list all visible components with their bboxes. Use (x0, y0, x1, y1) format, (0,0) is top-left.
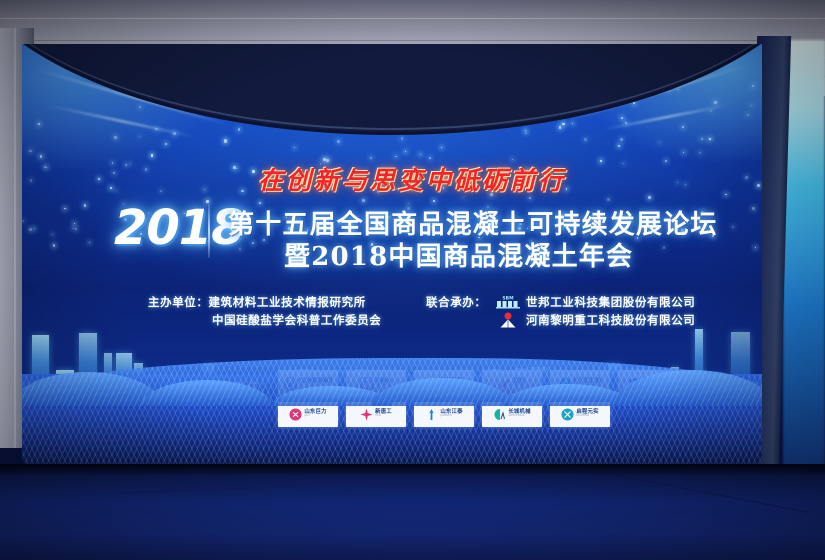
stage-floor (0, 464, 825, 560)
banner-year: 2018 (114, 200, 244, 256)
burst-icon (561, 408, 574, 421)
stage-photo: 在创新与思变中砥砺前行 2018 第十五届全国商品混凝土可持续发展论坛 暨201… (0, 0, 825, 560)
sponsor-name-block: 山东巨力JULI (304, 410, 326, 418)
host-organizer-line1: 主办单位：建筑材料工业技术情报研究所 (148, 294, 366, 310)
led-video-wall: 在创新与思变中砥砺前行 2018 第十五届全国商品混凝土可持续发展论坛 暨201… (22, 44, 762, 464)
svg-text:SBM: SBM (502, 296, 514, 302)
sponsor-subname: JULI (304, 415, 326, 418)
right-glow-panel (783, 40, 825, 470)
stage-floor-edge (0, 464, 825, 474)
co-organizer-label: 联合承办： (426, 294, 487, 310)
sponsor-name-block: 长城机械GREATWALL (508, 410, 530, 418)
co-organizer-line1: 世邦工业科技集团股份有限公司 (526, 294, 695, 310)
sponsor-subname: JIANGTAI (440, 415, 462, 418)
banner-slogan: 在创新与思变中砥砺前行 (212, 161, 612, 197)
sbm-logo-icon: SBM (495, 294, 521, 309)
sponsor-subname: QICHENG (576, 415, 598, 418)
sponsor-subname: XSG (375, 415, 392, 418)
lm-heavy-industry-logo-icon (499, 312, 517, 328)
sponsor-subname: GREATWALL (508, 415, 530, 418)
sponsor-name-block: 新唐工XSG (375, 410, 392, 418)
title-divider (208, 204, 210, 258)
sponsor-name-block: 山东江泰JIANGTAI (440, 410, 462, 418)
rosette-icon (289, 408, 302, 421)
cm-icon (493, 408, 506, 421)
sparkle-icon (360, 408, 373, 421)
banner-title-line2: 暨2018中国商品混凝土年会 (284, 236, 633, 273)
torch-icon (425, 408, 438, 421)
host-organizer-line2: 中国硅酸盐学会科普工作委员会 (212, 312, 381, 328)
co-organizer-line2: 河南黎明重工科技股份有限公司 (526, 312, 695, 328)
sponsor-name-block: 启程元实QICHENG (576, 410, 598, 418)
